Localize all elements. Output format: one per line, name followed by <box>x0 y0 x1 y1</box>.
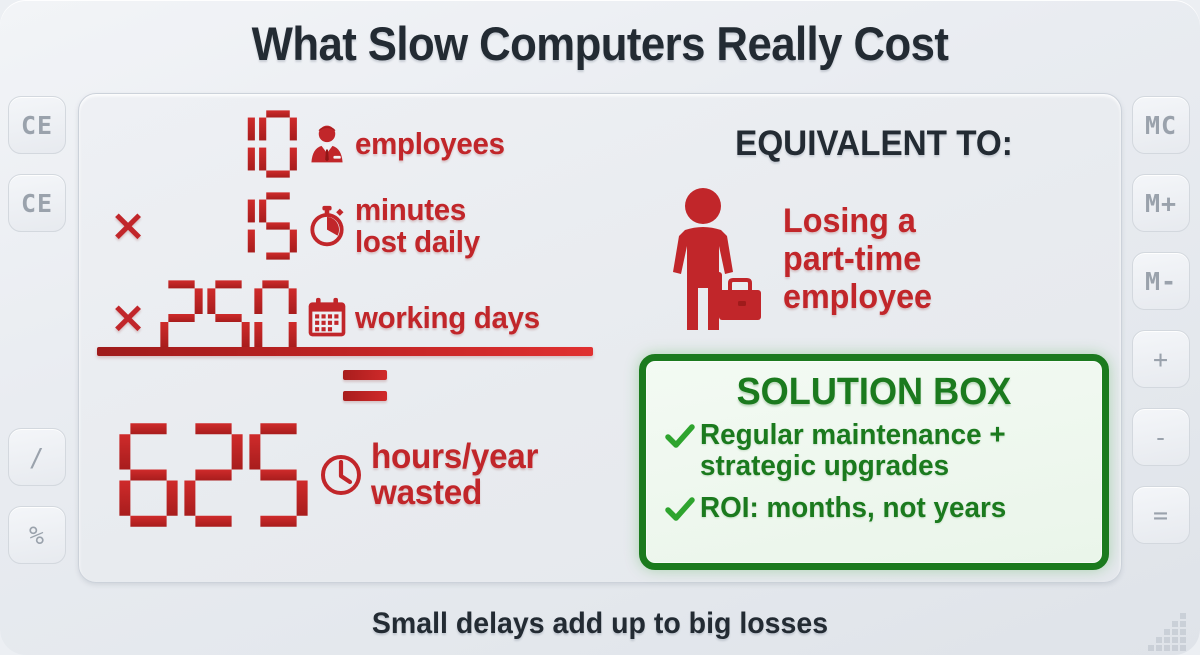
solution-item: ROI: months, not years <box>660 493 1088 524</box>
solution-item-text: ROI: months, not years <box>700 493 1006 524</box>
calc-label-minutes: minutes lost daily <box>355 194 480 257</box>
right-key-column: MC M+ M- + - = <box>1132 96 1192 544</box>
key-ce-2[interactable]: CE <box>8 174 66 232</box>
seg-digit <box>116 420 181 530</box>
equals-symbol <box>343 370 387 401</box>
calc-row-minutes: × minutes lost daily <box>97 190 637 262</box>
calculation-column: employees × <box>97 102 637 576</box>
seg-digit <box>215 108 257 180</box>
calc-label-result: hours/year wasted <box>371 439 538 510</box>
employee-icon <box>299 122 355 166</box>
seg-digit <box>257 190 299 262</box>
multiply-sign-2: × <box>97 296 159 340</box>
seg-value-days <box>159 278 299 358</box>
calendar-icon <box>299 296 355 340</box>
seg-digit <box>158 278 205 358</box>
key-plus[interactable]: + <box>1132 330 1190 388</box>
stopwatch-icon <box>299 204 355 248</box>
seg-value-result <box>103 420 311 530</box>
calc-label-days: working days <box>355 302 540 334</box>
page-title: What Slow Computers Really Cost <box>42 16 1158 71</box>
calc-row-result: hours/year wasted <box>97 420 637 530</box>
right-column: EQUIVALENT TO: Losing a part-time employ… <box>633 102 1115 576</box>
seg-digit <box>215 190 257 262</box>
seg-digit <box>181 420 246 530</box>
solution-title: SOLUTION BOX <box>671 371 1078 414</box>
corner-grip-dots <box>1138 607 1194 651</box>
equivalent-text: Losing a part-time employee <box>783 180 932 316</box>
multiply-sign-1: × <box>97 204 159 248</box>
solution-item: Regular maintenance + strategic upgrades <box>660 420 1088 483</box>
seg-value-minutes <box>159 190 299 262</box>
seg-value-employees <box>159 108 299 180</box>
check-icon <box>660 493 700 523</box>
seg-digit <box>205 278 252 358</box>
display-panel: employees × <box>78 93 1122 583</box>
key-memory-add[interactable]: M+ <box>1132 174 1190 232</box>
calc-row-days: × <box>97 278 637 358</box>
key-minus[interactable]: - <box>1132 408 1190 466</box>
key-ce-1[interactable]: CE <box>8 96 66 154</box>
key-divide[interactable]: / <box>8 428 66 486</box>
calc-row-employees: employees <box>97 108 637 180</box>
calc-label-employees: employees <box>355 128 505 160</box>
seg-digit <box>252 278 299 358</box>
key-percent[interactable]: % <box>8 506 66 564</box>
calculator-shell: What Slow Computers Really Cost CE CE / … <box>0 0 1200 655</box>
solution-box: SOLUTION BOX Regular maintenance + strat… <box>639 354 1109 570</box>
left-key-column: CE CE / % <box>8 96 68 564</box>
solution-item-text: Regular maintenance + strategic upgrades <box>700 420 1006 483</box>
footer-caption: Small delays add up to big losses <box>30 607 1170 641</box>
seg-digit <box>257 108 299 180</box>
equivalent-heading: EQUIVALENT TO: <box>645 124 1103 164</box>
person-with-briefcase-icon <box>655 180 767 339</box>
calculation-divider <box>97 347 593 356</box>
clock-icon <box>311 451 371 499</box>
key-memory-subtract[interactable]: M- <box>1132 252 1190 310</box>
key-memory-clear[interactable]: MC <box>1132 96 1190 154</box>
equivalent-body: Losing a part-time employee <box>655 180 940 339</box>
check-icon <box>660 420 700 450</box>
seg-digit <box>246 420 311 530</box>
key-equals[interactable]: = <box>1132 486 1190 544</box>
